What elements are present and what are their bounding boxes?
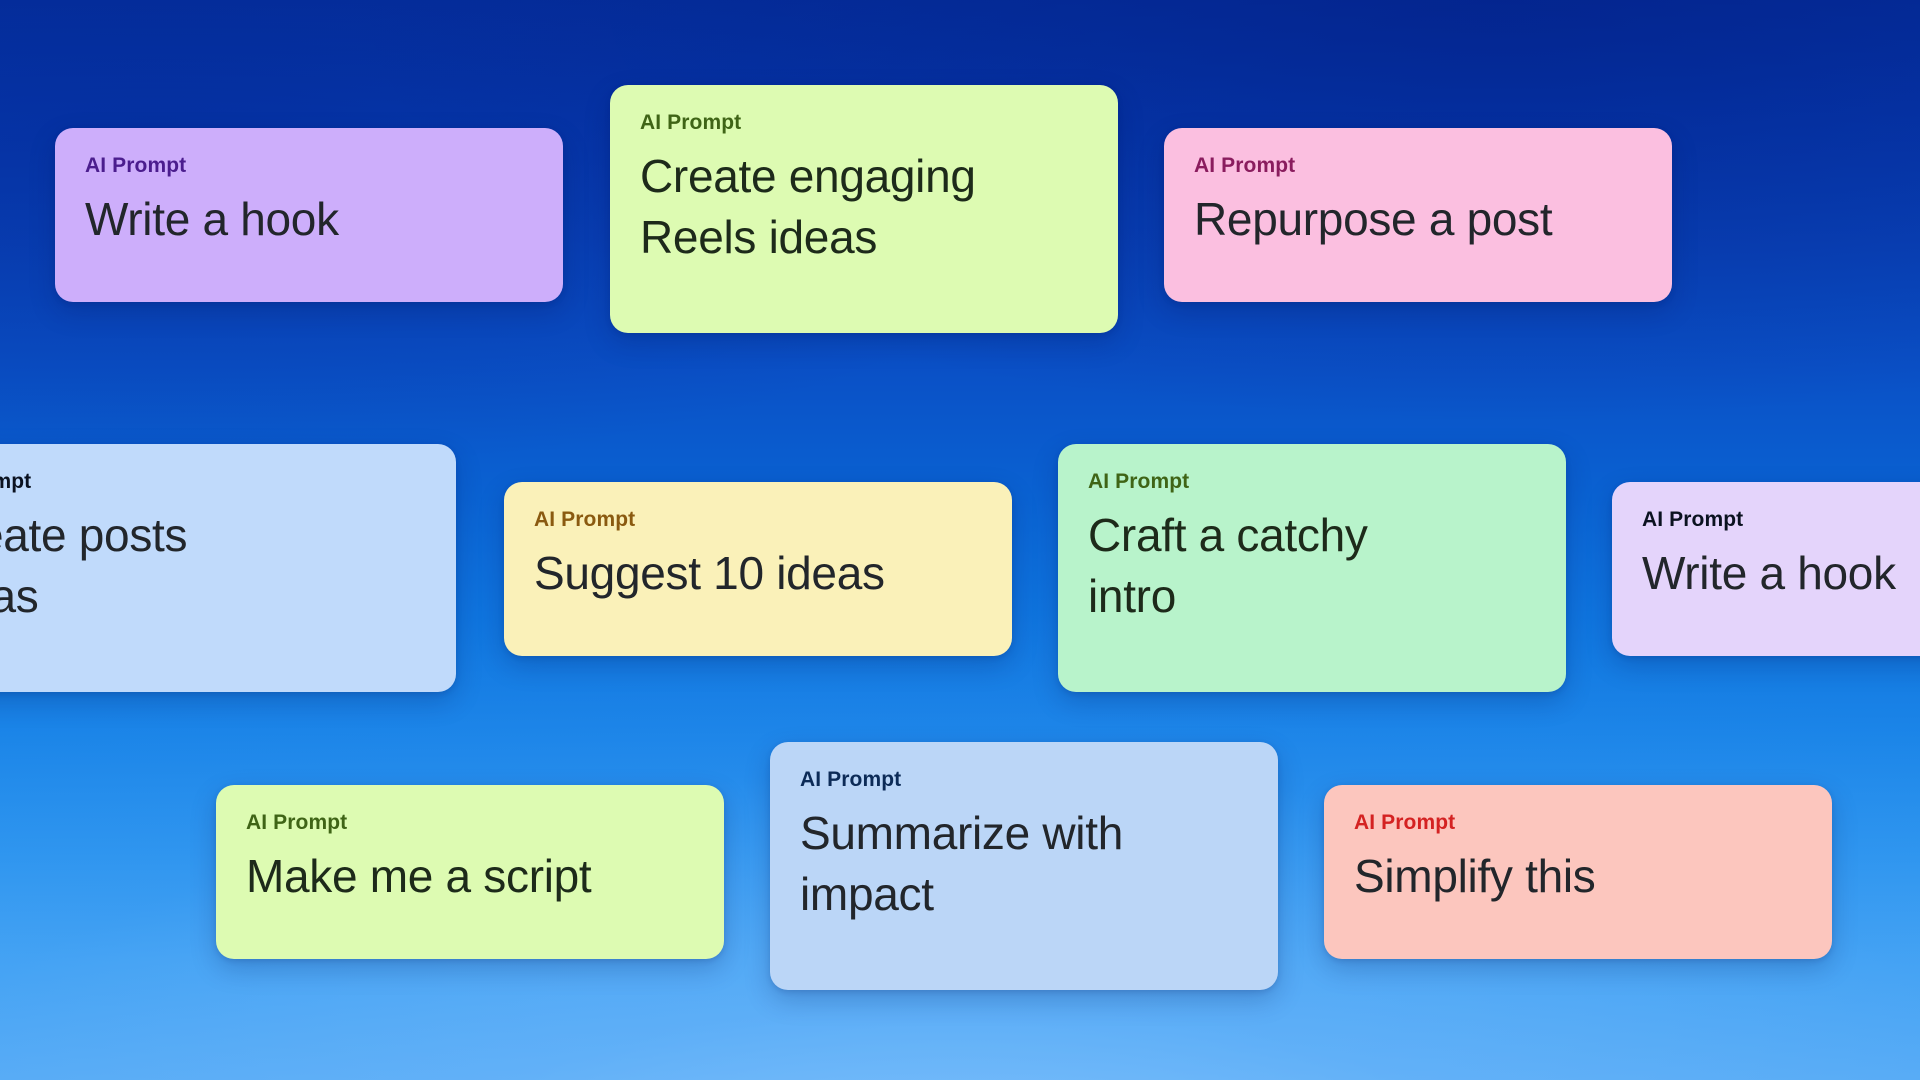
ai-prompt-card-title-make-me-a-script: Make me a script bbox=[246, 846, 694, 907]
ai-prompt-card-label-create-engaging-reels-ideas: AI Prompt bbox=[640, 111, 1088, 134]
ai-prompt-card-title-write-a-hook-purple: Write a hook bbox=[85, 189, 533, 250]
ai-prompt-card-create-engaging-reels-ideas[interactable]: AI Prompt Create engaging Reels ideas bbox=[610, 85, 1118, 333]
ai-prompt-card-title-craft-a-catchy-intro: Craft a catchy intro bbox=[1088, 505, 1536, 627]
ai-prompt-card-make-me-a-script[interactable]: AI Prompt Make me a script bbox=[216, 785, 724, 959]
ai-prompt-card-title-write-a-hook-lavender: Write a hook bbox=[1642, 543, 1920, 604]
ai-prompt-card-title-create-posts-ideas: Create posts ideas bbox=[0, 505, 426, 627]
ai-prompt-card-label-summarize-with-impact: AI Prompt bbox=[800, 768, 1248, 791]
ai-prompt-card-title-simplify-this: Simplify this bbox=[1354, 846, 1802, 907]
ai-prompt-card-label-create-posts-ideas: AI Prompt bbox=[0, 470, 426, 493]
prompt-card-canvas: AI Prompt Write a hook AI Prompt Create … bbox=[0, 0, 1920, 1080]
ai-prompt-card-label-suggest-10-ideas: AI Prompt bbox=[534, 508, 982, 531]
ai-prompt-card-write-a-hook-lavender[interactable]: AI Prompt Write a hook bbox=[1612, 482, 1920, 656]
ai-prompt-card-simplify-this[interactable]: AI Prompt Simplify this bbox=[1324, 785, 1832, 959]
ai-prompt-card-label-write-a-hook-purple: AI Prompt bbox=[85, 154, 533, 177]
ai-prompt-card-title-summarize-with-impact: Summarize with impact bbox=[800, 803, 1248, 925]
ai-prompt-card-label-repurpose-a-post: AI Prompt bbox=[1194, 154, 1642, 177]
ai-prompt-card-title-create-engaging-reels-ideas: Create engaging Reels ideas bbox=[640, 146, 1088, 268]
ai-prompt-card-summarize-with-impact[interactable]: AI Prompt Summarize with impact bbox=[770, 742, 1278, 990]
ai-prompt-card-create-posts-ideas[interactable]: AI Prompt Create posts ideas bbox=[0, 444, 456, 692]
ai-prompt-card-repurpose-a-post[interactable]: AI Prompt Repurpose a post bbox=[1164, 128, 1672, 302]
ai-prompt-card-label-write-a-hook-lavender: AI Prompt bbox=[1642, 508, 1920, 531]
ai-prompt-card-write-a-hook-purple[interactable]: AI Prompt Write a hook bbox=[55, 128, 563, 302]
ai-prompt-card-suggest-10-ideas[interactable]: AI Prompt Suggest 10 ideas bbox=[504, 482, 1012, 656]
ai-prompt-card-label-simplify-this: AI Prompt bbox=[1354, 811, 1802, 834]
ai-prompt-card-label-craft-a-catchy-intro: AI Prompt bbox=[1088, 470, 1536, 493]
ai-prompt-card-title-repurpose-a-post: Repurpose a post bbox=[1194, 189, 1642, 250]
ai-prompt-card-label-make-me-a-script: AI Prompt bbox=[246, 811, 694, 834]
ai-prompt-card-title-suggest-10-ideas: Suggest 10 ideas bbox=[534, 543, 982, 604]
ai-prompt-card-craft-a-catchy-intro[interactable]: AI Prompt Craft a catchy intro bbox=[1058, 444, 1566, 692]
